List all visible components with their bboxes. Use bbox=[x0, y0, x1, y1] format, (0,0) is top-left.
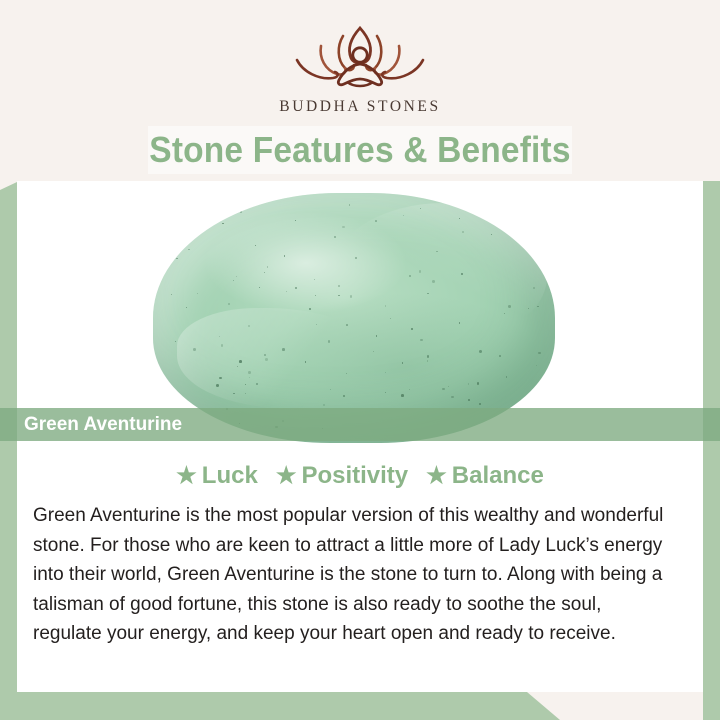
benefit-item: ★Balance bbox=[426, 462, 544, 490]
benefit-item: ★Positivity bbox=[276, 462, 408, 490]
frame-bottom-border bbox=[0, 692, 560, 720]
content-panel: ★Luck★Positivity★Balance Green Aventurin… bbox=[17, 443, 703, 692]
brand-logo: BUDDHA STONES bbox=[0, 22, 720, 116]
benefit-item: ★Luck bbox=[176, 462, 258, 490]
page-title: Stone Features & Benefits bbox=[25, 122, 695, 178]
frame-left-border bbox=[0, 182, 17, 720]
benefits-row: ★Luck★Positivity★Balance bbox=[17, 462, 703, 490]
benefit-label: Positivity bbox=[301, 462, 408, 489]
stone-name-bar: Green Aventurine bbox=[0, 408, 720, 441]
star-icon: ★ bbox=[276, 462, 297, 488]
star-icon: ★ bbox=[426, 462, 447, 488]
brand-name: BUDDHA STONES bbox=[0, 98, 720, 116]
stone-name-label: Green Aventurine bbox=[24, 408, 182, 441]
stone-speckles bbox=[153, 193, 555, 443]
lotus-meditation-icon bbox=[281, 22, 439, 94]
stone-photo bbox=[17, 181, 703, 443]
star-icon: ★ bbox=[176, 462, 197, 488]
stone-description: Green Aventurine is the most popular ver… bbox=[33, 501, 669, 649]
aventurine-stone-image bbox=[153, 193, 555, 443]
benefit-label: Luck bbox=[202, 462, 258, 489]
infographic-page: BUDDHA STONES Stone Features & Benefits … bbox=[0, 0, 720, 720]
header: BUDDHA STONES Stone Features & Benefits bbox=[0, 0, 720, 181]
benefit-label: Balance bbox=[452, 462, 544, 489]
